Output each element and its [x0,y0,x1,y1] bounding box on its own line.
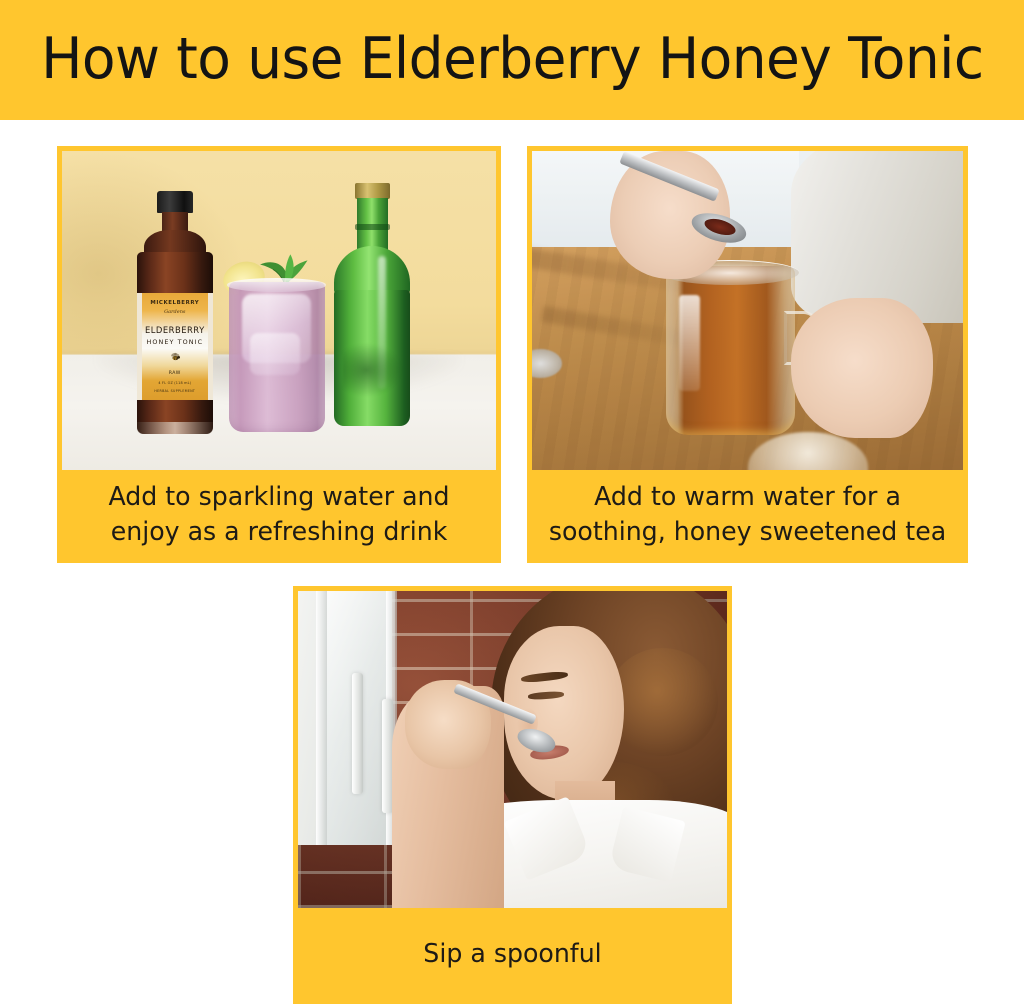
label-category: HERBAL SUPPLEMENT [142,389,208,393]
ice-cube-lower [250,333,300,375]
tonic-bottle: MICKELBERRY Gardens ELDERBERRY HONEY TON… [134,191,216,434]
header-banner: How to use Elderberry Honey Tonic [0,0,1024,120]
fridge-seam-left [316,591,327,845]
usage-card-sparkling-drink: MICKELBERRY Gardens ELDERBERRY HONEY TON… [57,146,501,563]
photo-warm-tea [532,151,963,470]
label-brand: MICKELBERRY [142,300,208,306]
caption-sip-spoonful: Sip a spoonful [304,908,720,1004]
caption-sparkling-drink: Add to sparkling water and enjoy as a re… [69,470,490,563]
label-raw-text: RAW [142,371,208,376]
sparkling-bottle-ring [355,224,390,229]
label-volume: 4 FL OZ (118 mL) [142,381,208,385]
mug-highlight [679,295,701,391]
sparkling-bottle-cap [355,183,390,199]
label-product-subtitle: HONEY TONIC [142,338,208,346]
caption-text: Sip a spoonful [423,937,601,971]
label-product-name: ELDERBERRY [142,325,208,335]
bee-icon [168,352,182,362]
label-brand-script: Gardens [142,309,208,315]
usage-card-sip-spoonful: Sip a spoonful [293,586,732,1004]
sparkling-bottle-herb-shadow [343,343,402,396]
fridge-handle-left [352,673,363,793]
sparkling-water-bottle [329,183,416,426]
fridge-handle-right [382,699,393,813]
bottle-shoulder [144,230,207,254]
usage-card-warm-tea: Add to warm water for a soothing, honey … [527,146,968,563]
page-title: How to use Elderberry Honey Tonic [41,30,983,90]
infographic-page: How to use Elderberry Honey Tonic MICKEL… [0,0,1024,1004]
photo-sparkling-drink: MICKELBERRY Gardens ELDERBERRY HONEY TON… [62,151,496,470]
bottle-cap [157,191,193,213]
product-label: MICKELBERRY Gardens ELDERBERRY HONEY TON… [137,293,213,400]
caption-text: Add to warm water for a soothing, honey … [546,480,949,549]
caption-text: Add to sparkling water and enjoy as a re… [76,480,481,549]
glass-rim [227,278,326,292]
sparkling-bottle-shoulder [334,246,410,295]
right-hand [791,298,933,439]
cocktail-glass [229,282,324,432]
bottle-base [137,422,213,434]
photo-sip-spoonful [298,591,727,908]
caption-warm-tea: Add to warm water for a soothing, honey … [538,470,956,563]
